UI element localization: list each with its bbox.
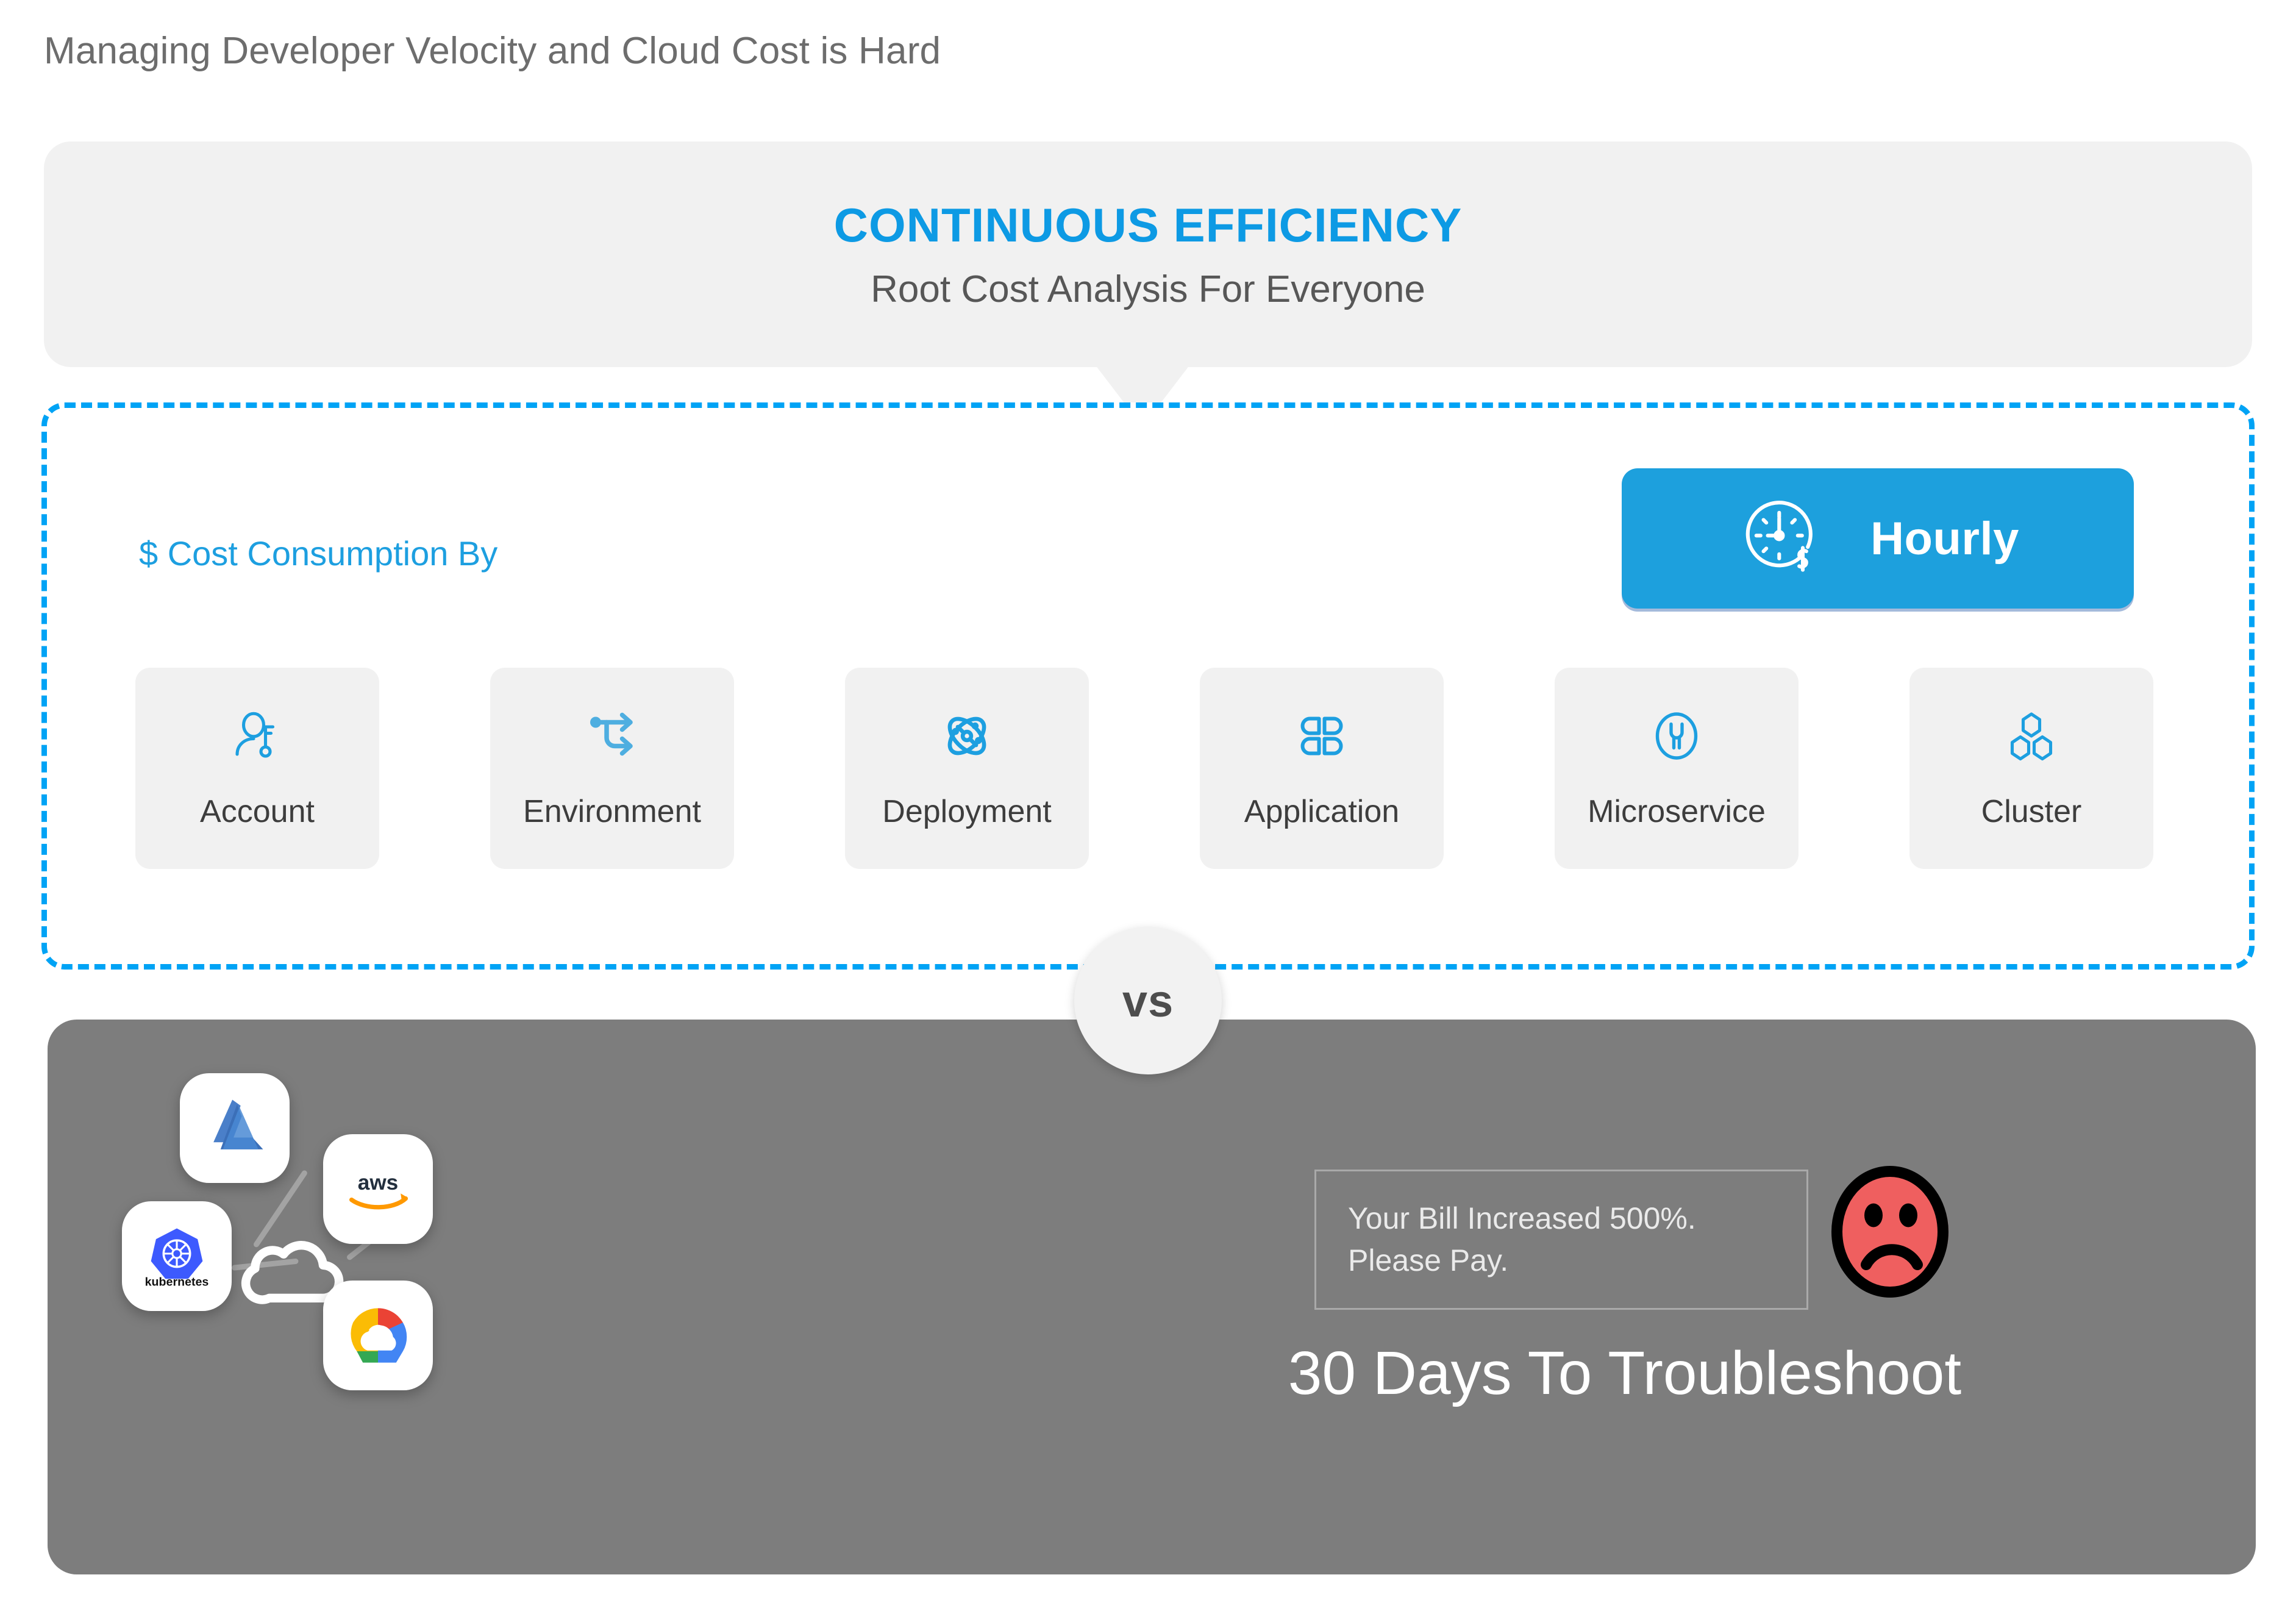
four-petal-grid-icon xyxy=(1292,707,1351,793)
azure-logo-tile xyxy=(180,1073,290,1183)
card-label: Cluster xyxy=(1981,793,2082,830)
card-application[interactable]: Application xyxy=(1200,668,1444,869)
page-title: Managing Developer Velocity and Cloud Co… xyxy=(44,29,941,73)
card-microservice[interactable]: Microservice xyxy=(1555,668,1799,869)
svg-text:kubernetes: kubernetes xyxy=(145,1276,209,1289)
card-label: Microservice xyxy=(1588,793,1766,830)
hourly-button[interactable]: Hourly xyxy=(1622,468,2134,609)
wrench-circle-icon xyxy=(1647,707,1706,793)
cost-category-cards: Account Environment xyxy=(135,668,2153,869)
banner-subtitle: Root Cost Analysis For Everyone xyxy=(871,269,1425,310)
continuous-efficiency-banner: CONTINUOUS EFFICIENCY Root Cost Analysis… xyxy=(44,141,2252,367)
card-environment[interactable]: Environment xyxy=(490,668,734,869)
person-key-icon xyxy=(228,707,287,793)
branch-arrows-icon xyxy=(583,707,641,793)
bill-notice-line-1: Your Bill Increased 500%. xyxy=(1348,1198,1806,1240)
troubleshoot-headline: 30 Days To Troubleshoot xyxy=(1107,1338,2143,1409)
svg-text:aws: aws xyxy=(358,1171,398,1195)
aws-logo: aws xyxy=(340,1151,416,1227)
cost-consumption-label: $ Cost Consumption By xyxy=(139,534,497,573)
gcp-logo xyxy=(340,1298,416,1373)
card-cluster[interactable]: Cluster xyxy=(1909,668,2153,869)
card-account[interactable]: Account xyxy=(135,668,379,869)
slide-canvas: Managing Developer Velocity and Cloud Co… xyxy=(0,0,2296,1622)
gcp-logo-tile xyxy=(323,1281,433,1390)
hexagon-cluster-icon xyxy=(2002,707,2061,793)
bill-notice-box: Your Bill Increased 500%. Please Pay. xyxy=(1314,1170,1808,1310)
clock-dollar-icon xyxy=(1736,493,1828,584)
aws-logo-tile: aws xyxy=(323,1134,433,1244)
kubernetes-logo: kubernetes xyxy=(139,1218,215,1294)
sad-face-icon xyxy=(1828,1159,1956,1305)
card-label: Deployment xyxy=(882,793,1051,830)
card-label: Application xyxy=(1244,793,1399,830)
hourly-button-label: Hourly xyxy=(1870,512,2019,565)
card-label: Account xyxy=(200,793,315,830)
vs-badge: vs xyxy=(1074,927,1222,1074)
kubernetes-logo-tile: kubernetes xyxy=(122,1201,232,1311)
banner-title: CONTINUOUS EFFICIENCY xyxy=(834,198,1463,253)
cloud-provider-diagram: aws xyxy=(122,1055,671,1543)
card-label: Environment xyxy=(523,793,701,830)
atom-icon xyxy=(938,707,996,793)
azure-logo xyxy=(197,1090,273,1166)
card-deployment[interactable]: Deployment xyxy=(845,668,1089,869)
vs-label: vs xyxy=(1122,975,1174,1027)
bill-notice-line-2: Please Pay. xyxy=(1348,1240,1806,1282)
